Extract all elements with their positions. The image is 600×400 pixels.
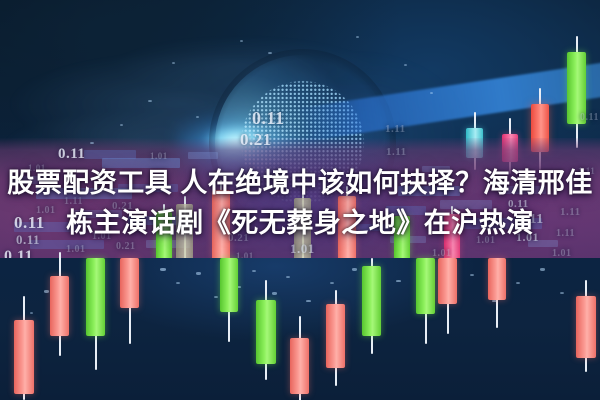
candlestick-red-7: [326, 0, 345, 400]
candlestick-red-6: [290, 0, 309, 400]
candle-body: [50, 276, 69, 336]
lower-candlestick-group: [0, 0, 600, 400]
candle-body: [488, 258, 506, 300]
candlestick-red-1: [14, 0, 34, 400]
candle-body: [86, 258, 105, 336]
candle-body: [416, 258, 435, 314]
candlestick-red-11: [488, 0, 506, 400]
candlestick-red-2: [50, 0, 69, 400]
candle-body: [362, 266, 381, 336]
candle-body: [290, 338, 309, 394]
candle-body: [326, 304, 345, 368]
candle-body: [14, 320, 34, 394]
candlestick-green-12: [220, 0, 238, 400]
candle-body: [120, 258, 139, 308]
news-banner-image: 0.111.010.111.010.110.111.011.110.211.01…: [0, 0, 600, 400]
candlestick-red-13: [576, 0, 596, 400]
candle-body: [256, 300, 276, 364]
candle-body: [220, 258, 238, 312]
candle-body: [438, 258, 457, 304]
candlestick-red-10: [438, 0, 457, 400]
candlestick-green-5: [256, 0, 276, 400]
candlestick-green-8: [362, 0, 381, 400]
candlestick-red-4: [120, 0, 139, 400]
candlestick-green-9: [416, 0, 435, 400]
candlestick-green-3: [86, 0, 105, 400]
candle-body: [576, 296, 596, 358]
